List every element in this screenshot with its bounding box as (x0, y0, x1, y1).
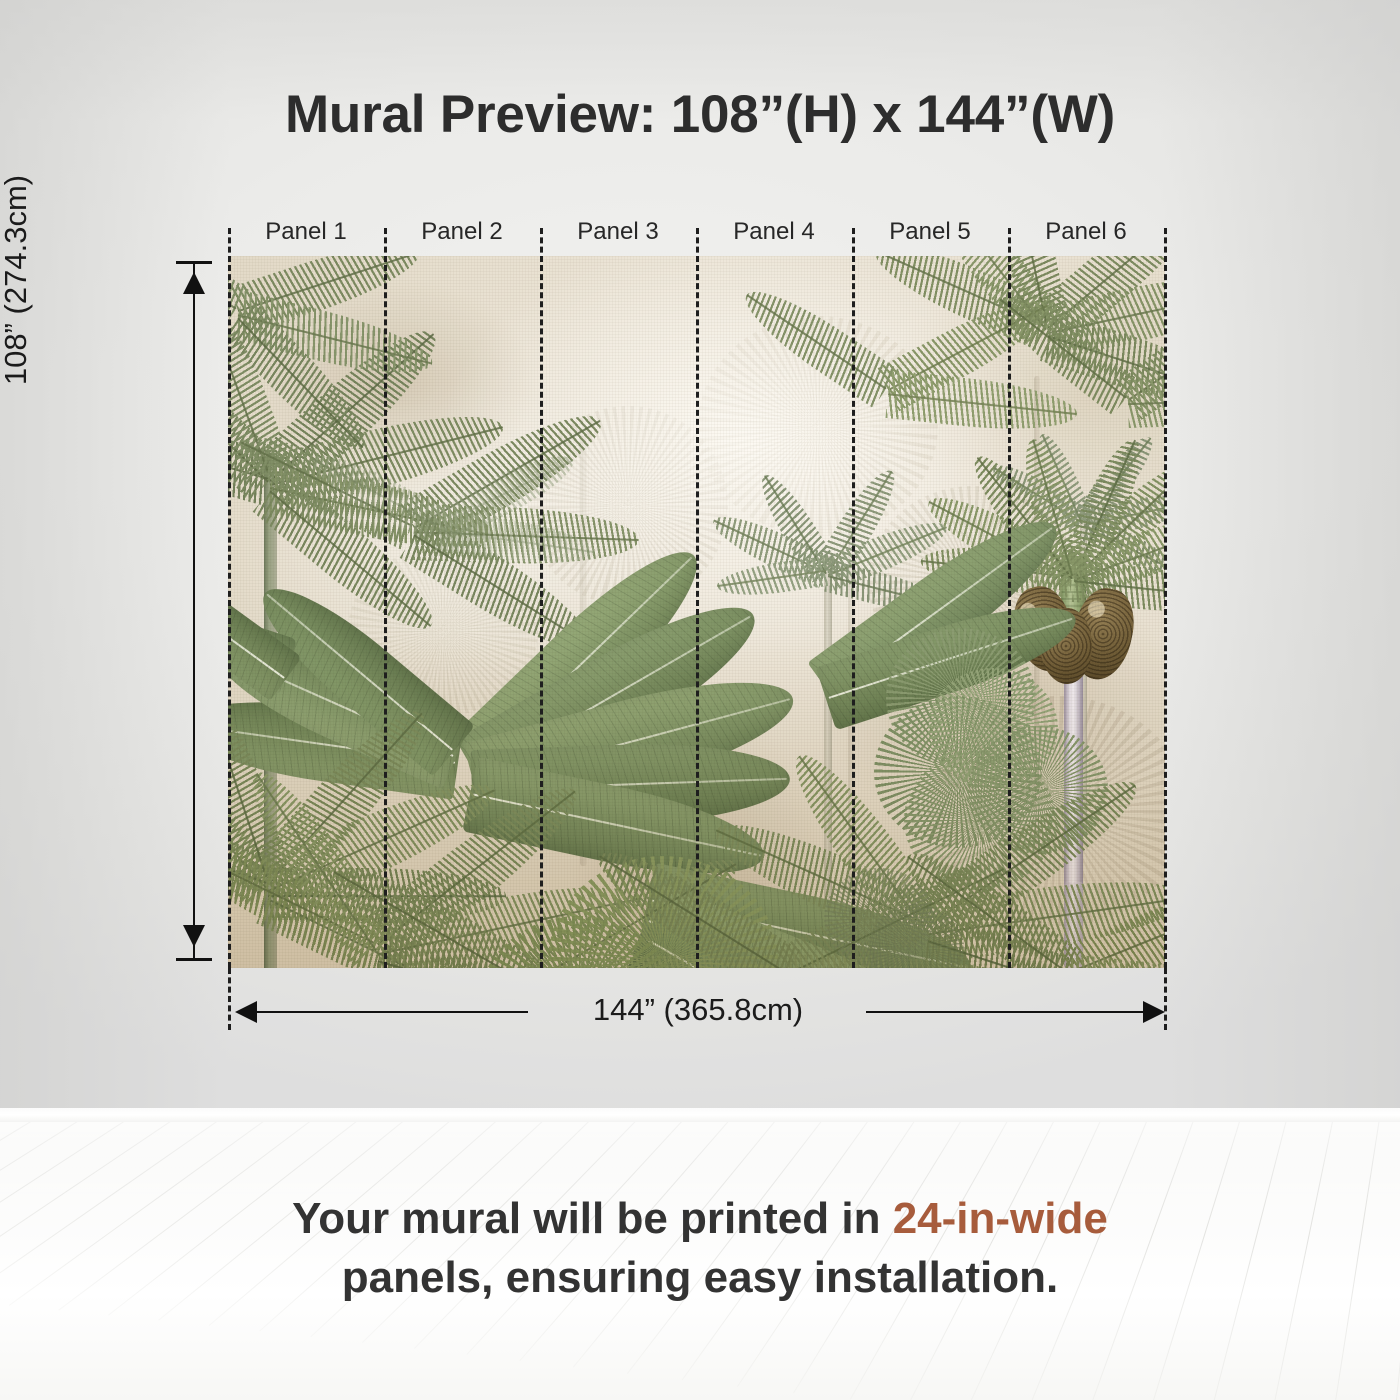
width-arrow-right-icon (1143, 1001, 1165, 1023)
caption-line-2: panels, ensuring easy installation. (0, 1249, 1400, 1308)
panel-label-4: Panel 4 (696, 218, 852, 246)
width-dimension-line-right (866, 1011, 1152, 1013)
panel-label-2: Panel 2 (384, 218, 540, 246)
mural-left-edge (228, 256, 231, 968)
mural-left-extension (228, 968, 231, 1030)
height-dimension-line (193, 262, 195, 960)
panel-label-5: Panel 5 (852, 218, 1008, 246)
caption-highlight: 24-in-wide (893, 1194, 1108, 1243)
panel-divider-2 (540, 256, 543, 968)
height-arrow-up-icon (183, 272, 205, 294)
width-arrow-left-icon (235, 1001, 257, 1023)
panel-label-3: Panel 3 (540, 218, 696, 246)
panel-divider-5 (1008, 256, 1011, 968)
caption: Your mural will be printed in 24-in-wide… (0, 1190, 1400, 1307)
width-dimension-line-left (248, 1011, 528, 1013)
wall-left-shading (0, 0, 230, 1122)
page-title: Mural Preview: 108”(H) x 144”(W) (0, 84, 1400, 145)
wall-right-shading (1160, 0, 1400, 1122)
panel-divider-4 (852, 256, 855, 968)
panel-label-1: Panel 1 (228, 218, 384, 246)
panel-divider-1 (384, 256, 387, 968)
height-dimension-label: 108” (274.3cm) (0, 80, 34, 480)
mural-right-edge (1164, 256, 1167, 968)
width-dimension-label: 144” (365.8cm) (528, 992, 868, 1028)
height-arrow-down-icon (183, 925, 205, 947)
panel-label-6: Panel 6 (1008, 218, 1164, 246)
caption-line-1: Your mural will be printed in 24-in-wide (0, 1190, 1400, 1249)
mural-preview-screenshot: Mural Preview: 108”(H) x 144”(W) (0, 0, 1400, 1400)
panel-divider-3 (696, 256, 699, 968)
caption-line-1-prefix: Your mural will be printed in (292, 1194, 893, 1243)
